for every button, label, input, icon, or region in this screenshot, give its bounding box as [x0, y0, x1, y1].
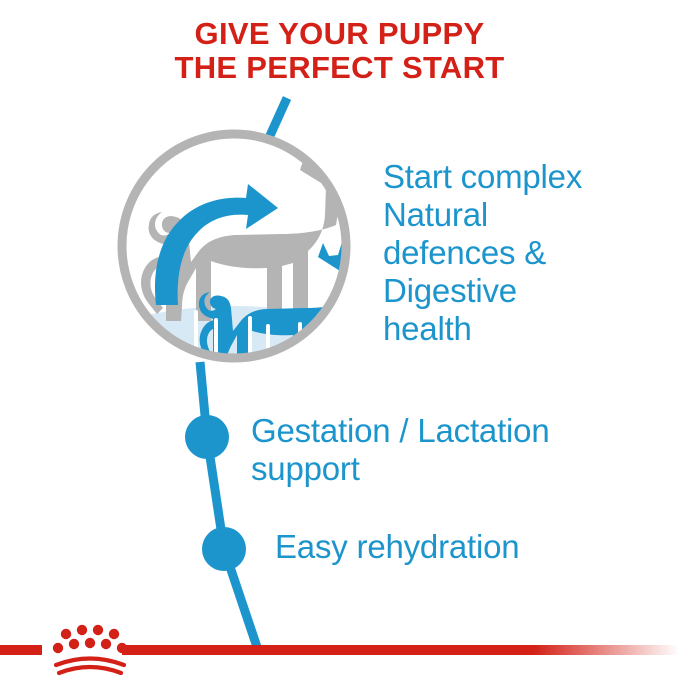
- advertisement-panel: GIVE YOUR PUPPY THE PERFECT START: [0, 0, 679, 679]
- royal-canin-crown-logo: [53, 625, 127, 673]
- footer-bar-right: [122, 645, 679, 655]
- footer-bar-left: [0, 645, 42, 655]
- footer: [0, 0, 679, 679]
